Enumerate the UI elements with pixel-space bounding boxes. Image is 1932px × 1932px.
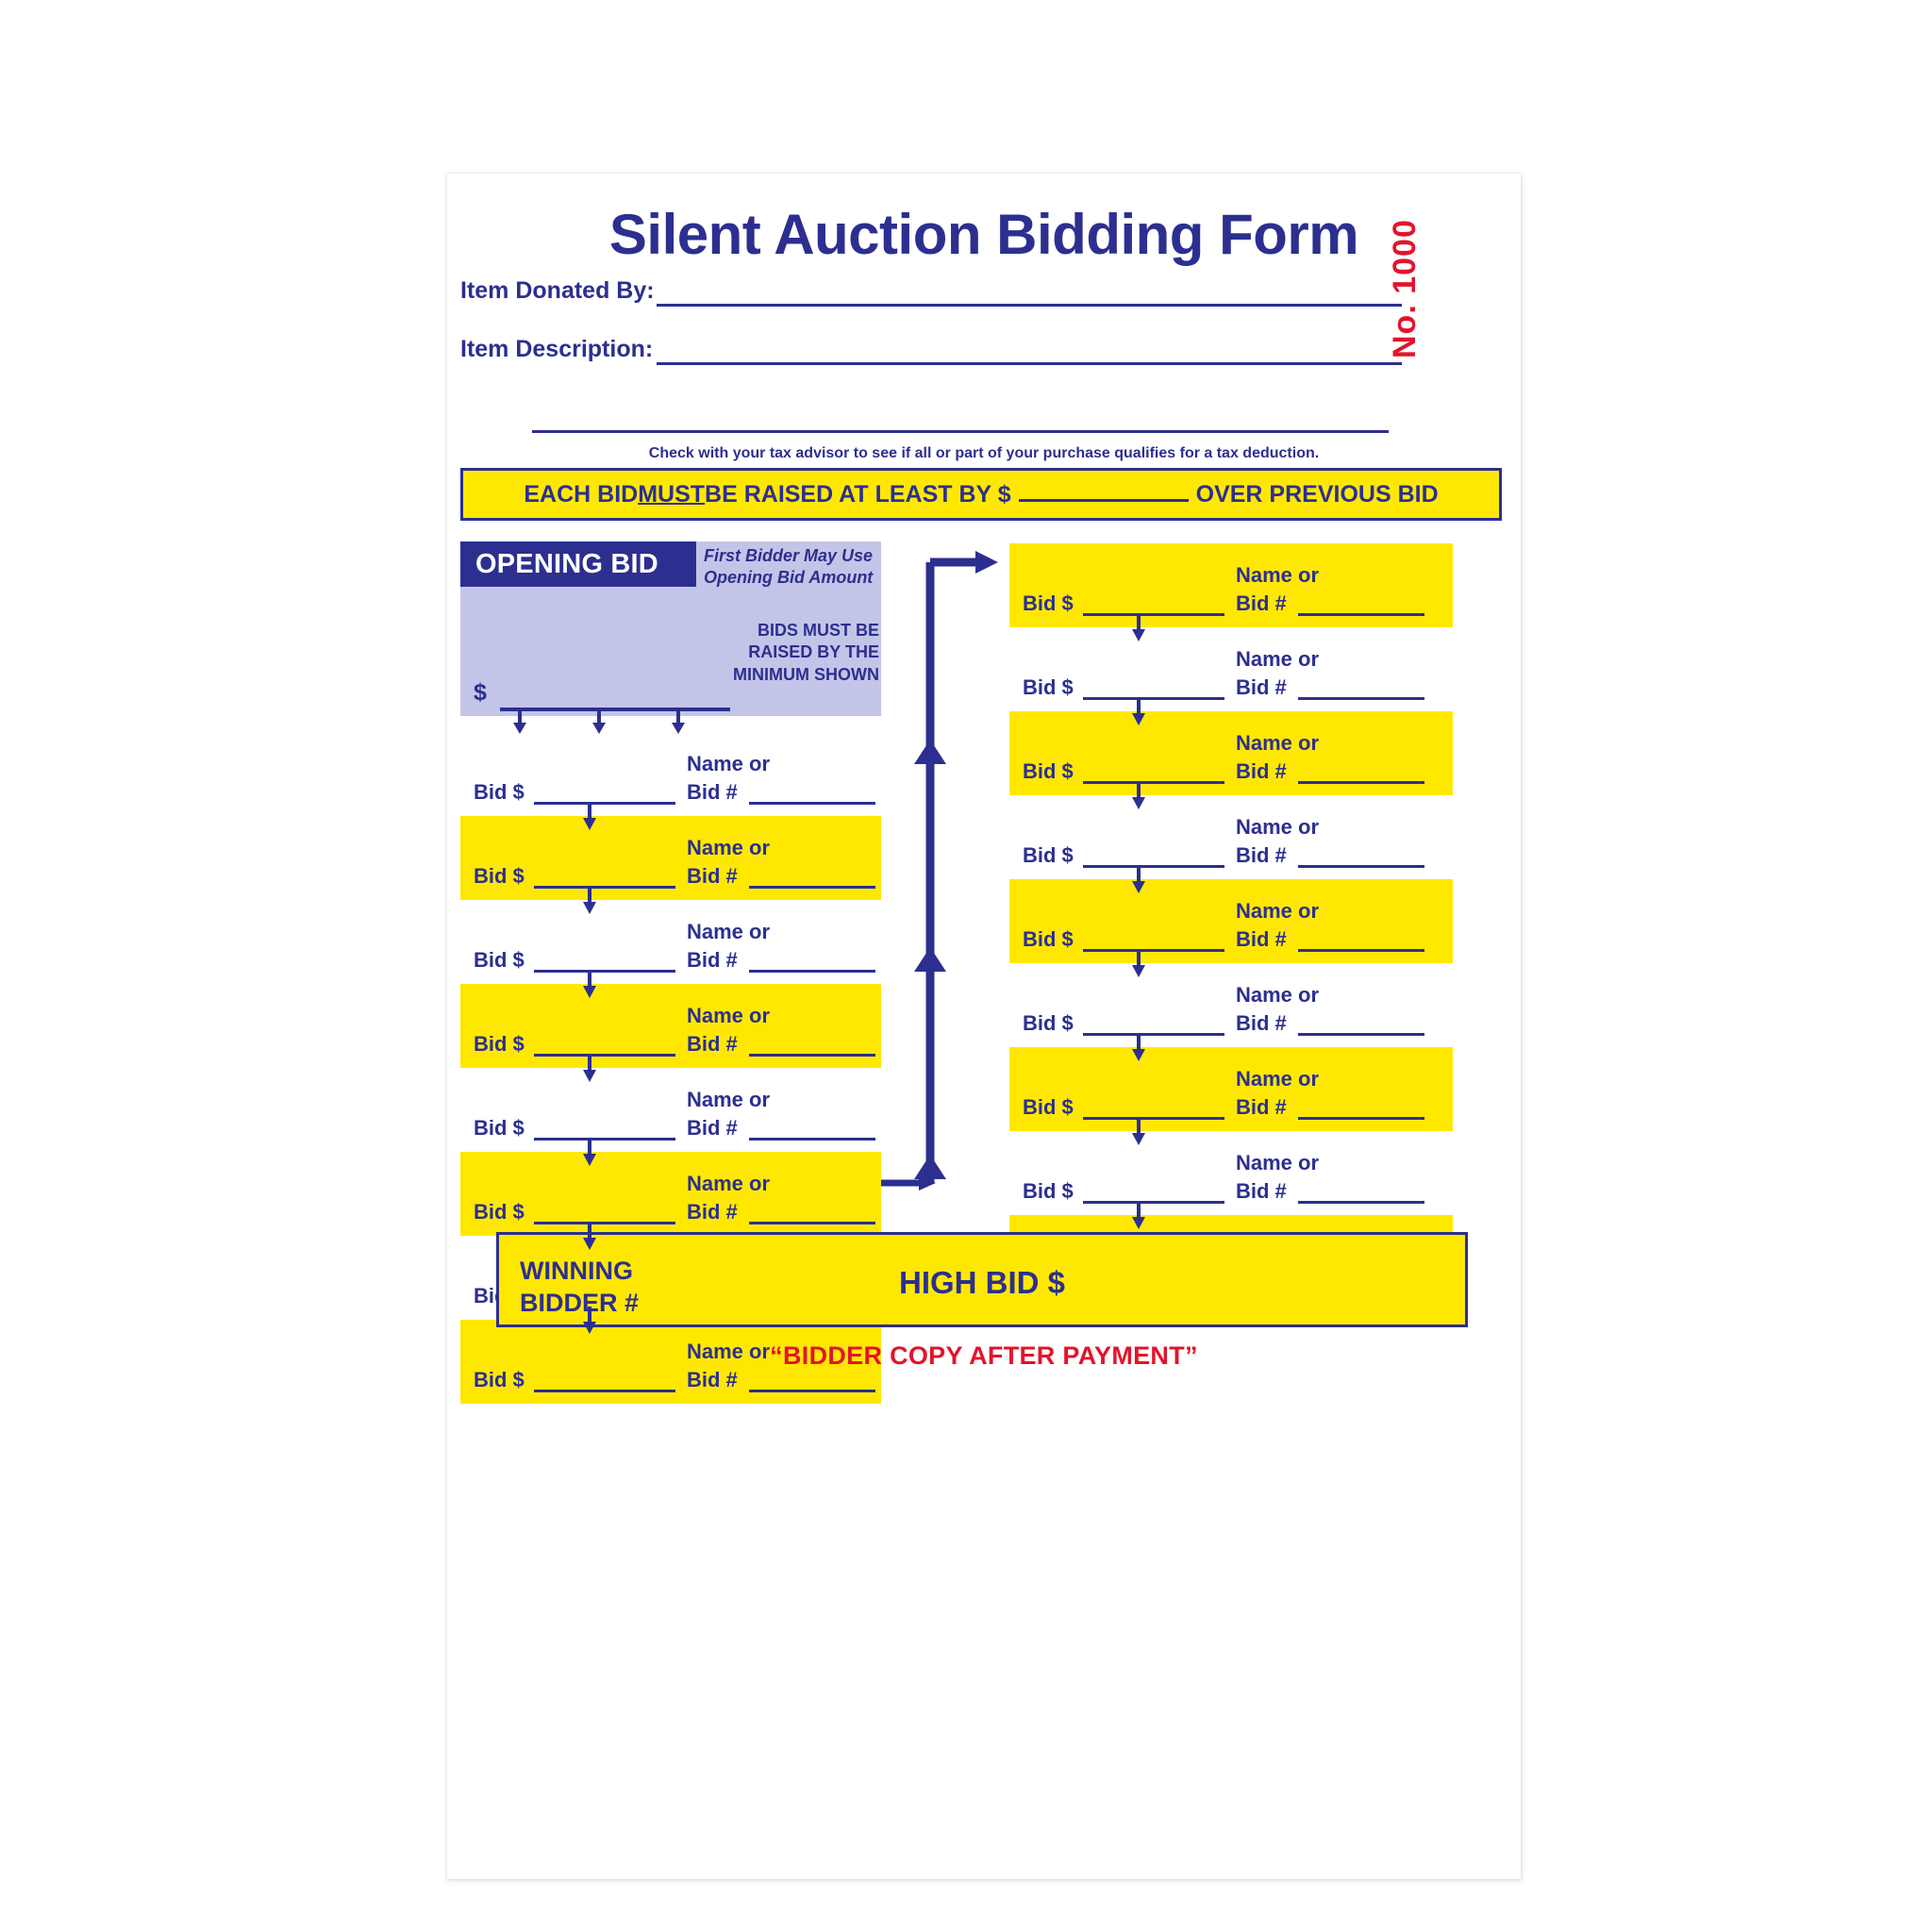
- bid-row: Bid $Name orBid #: [1009, 1131, 1453, 1215]
- down-arrow-icon: [1132, 866, 1145, 894]
- opening-bid-tag-label: OPENING BID: [460, 549, 658, 580]
- bid-amount-label: Bid $: [1023, 591, 1074, 616]
- down-arrow-icon: [1132, 698, 1145, 726]
- down-arrow-icon: [583, 971, 596, 999]
- down-arrow-icon: [1132, 1034, 1145, 1062]
- bid-row: Bid $Name orBid #: [1009, 543, 1453, 627]
- item-description-row: Item Description:: [460, 336, 1460, 368]
- minimum-raise-text: EACH BID MUST BE RAISED AT LEAST BY $OVE…: [524, 480, 1438, 508]
- page-title: Silent Auction Bidding Form: [447, 202, 1521, 267]
- bid-row: Bid $Name orBid #: [460, 816, 881, 900]
- bid-number-label: Bid #: [1236, 843, 1287, 868]
- bid-row: Bid $Name orBid #: [460, 732, 881, 816]
- first-bidder-note-line2: Opening Bid Amount: [704, 567, 873, 589]
- item-donated-by-input[interactable]: [657, 304, 1402, 307]
- down-arrow-icon: [583, 1139, 596, 1167]
- bid-amount-label: Bid $: [1023, 1011, 1074, 1036]
- down-arrow-icon: [583, 1223, 596, 1251]
- down-arrow-icon: [1132, 782, 1145, 810]
- first-bidder-note: First Bidder May Use Opening Bid Amount: [704, 545, 873, 589]
- bid-amount-input[interactable]: [1083, 697, 1224, 700]
- high-bid-label: HIGH BID $: [499, 1265, 1465, 1301]
- bid-number-input[interactable]: [1298, 865, 1424, 868]
- raise-emphasis: MUST: [638, 481, 705, 508]
- down-arrow-icon: [592, 709, 606, 734]
- bid-amount-input[interactable]: [1083, 1117, 1224, 1120]
- minimum-shown-line2: RAISED BY THE: [704, 641, 879, 663]
- bid-number-input[interactable]: [749, 1054, 875, 1057]
- bid-amount-label: Bid $: [474, 1368, 525, 1392]
- name-or-label: Name or: [687, 920, 770, 944]
- bid-number-label: Bid #: [687, 948, 738, 973]
- item-donated-by-label: Item Donated By:: [460, 277, 655, 305]
- bid-amount-input[interactable]: [534, 970, 675, 973]
- opening-bid-input[interactable]: [500, 708, 730, 711]
- name-or-label: Name or: [1236, 983, 1319, 1008]
- down-arrow-icon: [1132, 1202, 1145, 1230]
- name-or-label: Name or: [1236, 1067, 1319, 1091]
- bid-number-input[interactable]: [749, 1138, 875, 1141]
- bid-number-input[interactable]: [749, 802, 875, 805]
- raise-middle: BE RAISED AT LEAST BY $: [705, 481, 1011, 508]
- bid-amount-input[interactable]: [534, 886, 675, 889]
- bid-amount-label: Bid $: [1023, 1179, 1074, 1204]
- minimum-shown-note: BIDS MUST BE RAISED BY THE MINIMUM SHOWN: [704, 620, 879, 686]
- bid-amount-label: Bid $: [1023, 927, 1074, 952]
- bid-amount-label: Bid $: [1023, 1095, 1074, 1120]
- bid-amount-label: Bid $: [1023, 843, 1074, 868]
- opening-bid-tag: OPENING BID: [460, 541, 696, 587]
- down-arrow-icon: [583, 1307, 596, 1335]
- item-description-input[interactable]: [657, 362, 1402, 365]
- name-or-label: Name or: [1236, 1151, 1319, 1175]
- down-arrow-icon: [583, 803, 596, 831]
- name-or-label: Name or: [1236, 563, 1319, 588]
- bid-number-input[interactable]: [1298, 781, 1424, 784]
- down-arrow-icon: [1132, 614, 1145, 642]
- tax-advisor-note: Check with your tax advisor to see if al…: [447, 445, 1521, 462]
- opening-bid-panel: OPENING BID First Bidder May Use Opening…: [460, 541, 881, 716]
- bid-number-input[interactable]: [749, 886, 875, 889]
- name-or-label: Name or: [1236, 815, 1319, 840]
- bid-amount-label: Bid $: [1023, 675, 1074, 700]
- bid-amount-label: Bid $: [474, 864, 525, 889]
- opening-bid-dollar-sign: $: [474, 679, 487, 707]
- bid-column-right: Bid $Name orBid #Bid $Name orBid #Bid $N…: [1009, 543, 1453, 1299]
- bid-row: Bid $Name orBid #: [1009, 795, 1453, 879]
- bid-number-input[interactable]: [1298, 1117, 1424, 1120]
- bid-amount-input[interactable]: [1083, 781, 1224, 784]
- bid-amount-input[interactable]: [534, 1054, 675, 1057]
- minimum-raise-banner: EACH BID MUST BE RAISED AT LEAST BY $OVE…: [460, 468, 1502, 521]
- down-arrow-icon: [672, 709, 685, 734]
- bid-number-label: Bid #: [1236, 927, 1287, 952]
- name-or-label: Name or: [687, 836, 770, 860]
- bid-number-input[interactable]: [1298, 613, 1424, 616]
- raise-suffix: OVER PREVIOUS BID: [1196, 481, 1439, 508]
- down-arrow-icon: [513, 709, 526, 734]
- bid-number-label: Bid #: [687, 1368, 738, 1392]
- bid-number-label: Bid #: [687, 1032, 738, 1057]
- bid-number-input[interactable]: [1298, 1033, 1424, 1036]
- minimum-raise-input[interactable]: [1019, 480, 1189, 502]
- bid-amount-input[interactable]: [1083, 1201, 1224, 1204]
- item-description-input-line2[interactable]: [532, 430, 1389, 433]
- bid-number-label: Bid #: [1236, 675, 1287, 700]
- first-bidder-note-line1: First Bidder May Use: [704, 545, 873, 567]
- bid-number-label: Bid #: [687, 1116, 738, 1141]
- down-arrow-icon: [1132, 1118, 1145, 1146]
- bid-row: Bid $Name orBid #: [1009, 879, 1453, 963]
- name-or-label: Name or: [687, 752, 770, 776]
- bid-amount-input[interactable]: [534, 1390, 675, 1392]
- bid-amount-label: Bid $: [474, 948, 525, 973]
- bid-number-label: Bid #: [1236, 1011, 1287, 1036]
- raise-prefix: EACH BID: [524, 481, 638, 508]
- bid-amount-input[interactable]: [1083, 613, 1224, 616]
- minimum-shown-line1: BIDS MUST BE: [704, 620, 879, 641]
- bid-row: Bid $Name orBid #: [460, 1152, 881, 1236]
- down-arrow-icon: [583, 1055, 596, 1083]
- bid-number-label: Bid #: [1236, 1095, 1287, 1120]
- name-or-label: Name or: [1236, 899, 1319, 924]
- bid-number-input[interactable]: [1298, 949, 1424, 952]
- name-or-label: Name or: [687, 1088, 770, 1112]
- bid-number-label: Bid #: [687, 864, 738, 889]
- bid-number-label: Bid #: [687, 780, 738, 805]
- bid-row: Bid $Name orBid #: [460, 984, 881, 1068]
- bid-row: Bid $Name orBid #: [1009, 627, 1453, 711]
- bid-number-input[interactable]: [749, 970, 875, 973]
- bid-amount-input[interactable]: [534, 1138, 675, 1141]
- bid-row: Bid $Name orBid #: [460, 900, 881, 984]
- bid-amount-label: Bid $: [1023, 759, 1074, 784]
- bid-number-input[interactable]: [749, 1390, 875, 1392]
- bid-row: Bid $Name orBid #: [1009, 1047, 1453, 1131]
- bid-number-label: Bid #: [1236, 591, 1287, 616]
- name-or-label: Name or: [1236, 731, 1319, 756]
- down-arrow-icon: [1132, 950, 1145, 978]
- bid-amount-input[interactable]: [1083, 1033, 1224, 1036]
- down-arrow-icon: [583, 887, 596, 915]
- bid-row: Bid $Name orBid #: [1009, 711, 1453, 795]
- bid-row: Bid $Name orBid #: [460, 1068, 881, 1152]
- item-donated-by-row: Item Donated By:: [460, 277, 1460, 309]
- minimum-shown-line3: MINIMUM SHOWN: [704, 664, 879, 686]
- bid-amount-input[interactable]: [534, 1222, 675, 1224]
- bid-amount-label: Bid $: [474, 1032, 525, 1057]
- screenshot-canvas: Silent Auction Bidding Form No. 1000 Ite…: [0, 0, 1932, 1932]
- bid-amount-label: Bid $: [474, 1116, 525, 1141]
- name-or-label: Name or: [1236, 647, 1319, 672]
- name-or-label: Name or: [687, 1004, 770, 1028]
- bid-number-label: Bid #: [687, 1200, 738, 1224]
- bid-number-input[interactable]: [1298, 697, 1424, 700]
- bid-amount-input[interactable]: [1083, 949, 1224, 952]
- item-description-label: Item Description:: [460, 336, 653, 363]
- bid-number-label: Bid #: [1236, 759, 1287, 784]
- bid-number-input[interactable]: [1298, 1201, 1424, 1204]
- bid-amount-label: Bid $: [474, 1200, 525, 1224]
- auction-form-sheet: Silent Auction Bidding Form No. 1000 Ite…: [447, 174, 1521, 1879]
- bid-number-label: Bid #: [1236, 1179, 1287, 1204]
- bid-row: Bid $Name orBid #: [1009, 963, 1453, 1047]
- winning-bidder-box: WINNING BIDDER # HIGH BID $: [496, 1232, 1468, 1327]
- name-or-label: Name or: [687, 1172, 770, 1196]
- bid-amount-input[interactable]: [1083, 865, 1224, 868]
- bidder-copy-note: “BIDDER COPY AFTER PAYMENT”: [447, 1341, 1521, 1371]
- bid-number-input[interactable]: [749, 1222, 875, 1224]
- bid-amount-label: Bid $: [474, 780, 525, 805]
- bid-amount-input[interactable]: [534, 802, 675, 805]
